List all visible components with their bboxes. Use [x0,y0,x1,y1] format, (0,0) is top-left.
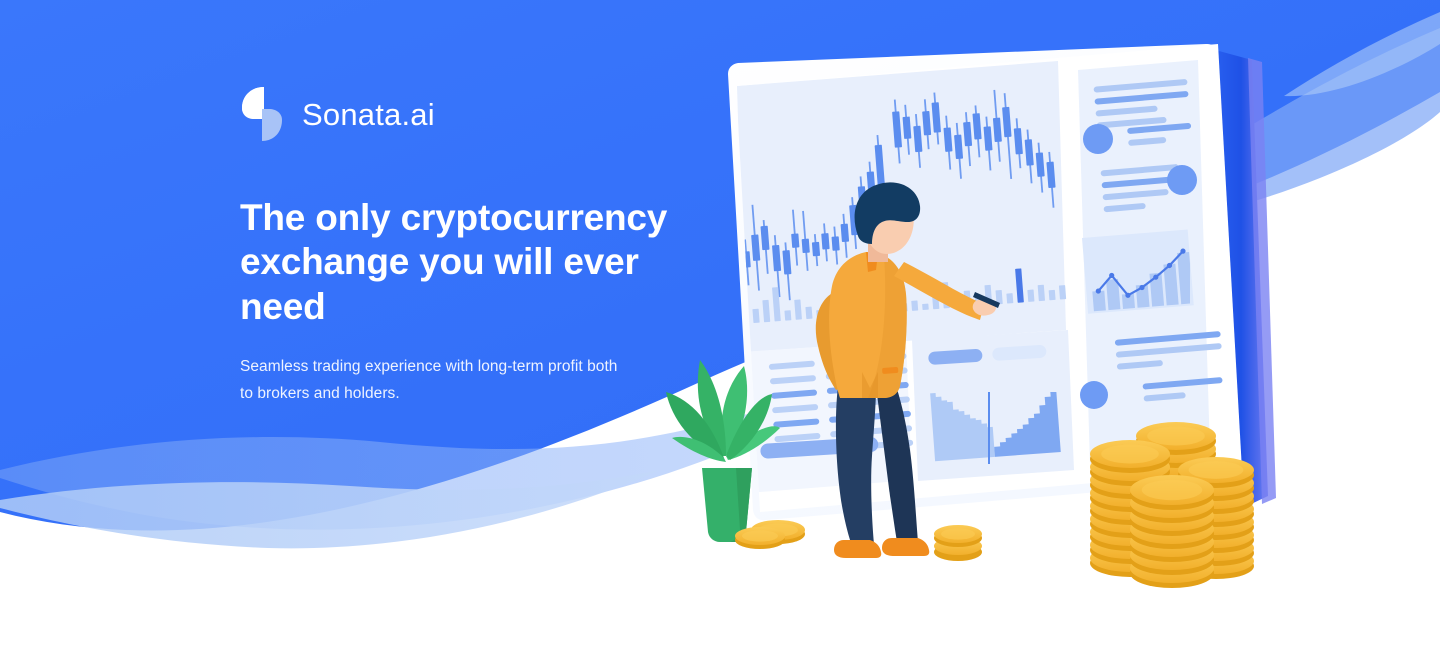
avatar [1080,381,1108,409]
volume-bar [784,310,791,320]
hero-banner: Sonata.ai The only cryptocurrency exchan… [0,0,1440,666]
hero-subhead: Seamless trading experience with long-te… [240,354,632,407]
sonata-s-mark-icon [240,85,284,143]
volume-bar [805,307,812,319]
person-jacket-pocket [882,367,898,374]
coin-stack [1130,475,1214,588]
hero-illustration [0,0,1440,666]
mini-bar [1092,291,1106,312]
person-shoe-left [834,540,881,558]
volume-bar [922,304,929,310]
brand-lockup[interactable]: Sonata.ai [240,84,680,144]
volume-bar [911,300,918,310]
person-shoe-right [882,538,929,556]
volume-bar [1049,290,1056,300]
volume-bar [752,309,759,323]
area-divider [988,388,990,464]
volume-bar [1038,285,1045,301]
volume-bar [1059,285,1066,299]
avatar [1083,124,1113,154]
volume-bar [1027,290,1034,302]
hero-copy: Sonata.ai The only cryptocurrency exchan… [240,84,680,423]
brand-name: Sonata.ai [302,99,435,130]
hero-headline: The only cryptocurrency exchange you wil… [240,196,670,329]
avatar [1167,165,1197,195]
loose-coins-center [934,525,982,561]
volume-bar [1006,293,1013,303]
